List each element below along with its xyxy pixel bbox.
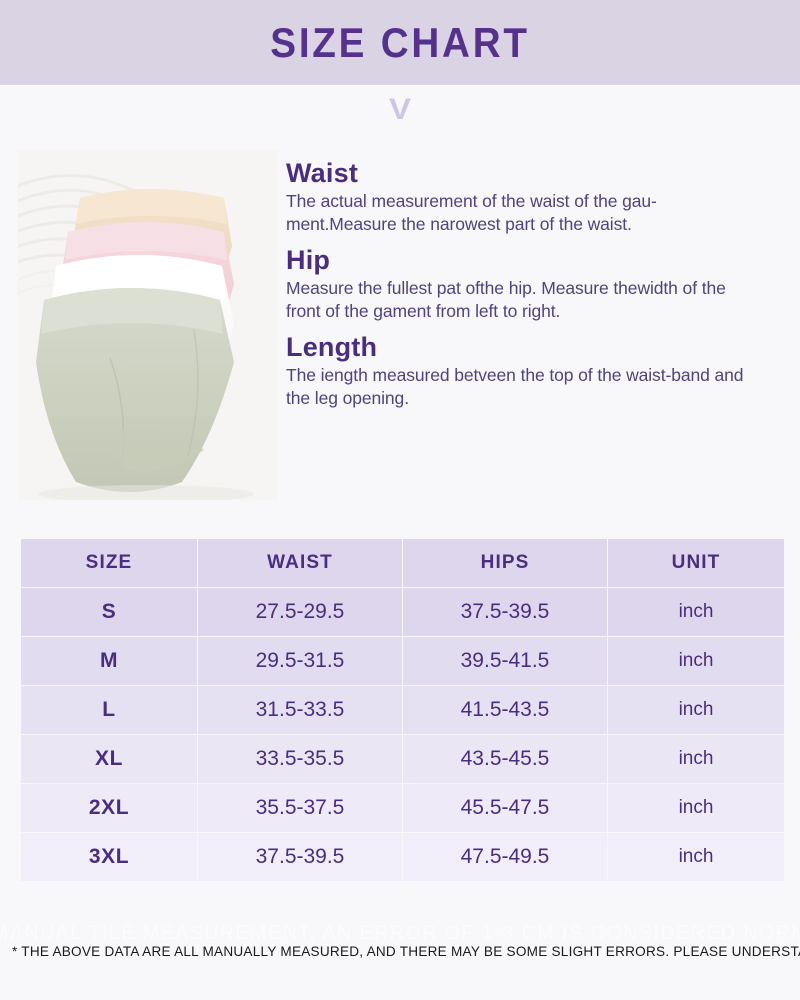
info-section: Waist The actual measurement of the wais… — [0, 140, 800, 520]
product-photo — [18, 150, 278, 500]
desc-heading-length: Length — [286, 332, 764, 364]
cell-unit: inch — [608, 833, 784, 881]
cell-size: 2XL — [21, 784, 197, 832]
cell-unit: inch — [608, 735, 784, 783]
footer: MANUAL TILE MEASUREMENT, AN ERROR OF 1-3… — [0, 905, 800, 1000]
measurement-descriptions: Waist The actual measurement of the wais… — [286, 158, 764, 419]
cell-hips: 45.5-47.5 — [403, 784, 607, 832]
desc-body-waist: The actual measurement of the waist of t… — [286, 190, 764, 236]
cell-size: XL — [21, 735, 197, 783]
column-header-unit: UNIT — [608, 539, 784, 587]
size-table: SIZE WAIST HIPS UNIT S 27.5-29.5 37.5-39… — [20, 538, 785, 882]
table-header-row: SIZE WAIST HIPS UNIT — [21, 539, 784, 587]
table-row: 2XL 35.5-37.5 45.5-47.5 inch — [21, 784, 784, 832]
table-row: XL 33.5-35.5 43.5-45.5 inch — [21, 735, 784, 783]
cell-waist: 37.5-39.5 — [198, 833, 402, 881]
cell-waist: 27.5-29.5 — [198, 588, 402, 636]
page-title: SIZE CHART — [270, 19, 529, 67]
cell-waist: 35.5-37.5 — [198, 784, 402, 832]
cell-waist: 29.5-31.5 — [198, 637, 402, 685]
desc-heading-waist: Waist — [286, 158, 764, 190]
cell-size: 3XL — [21, 833, 197, 881]
cell-hips: 43.5-45.5 — [403, 735, 607, 783]
table-row: L 31.5-33.5 41.5-43.5 inch — [21, 686, 784, 734]
cell-size: S — [21, 588, 197, 636]
cell-hips: 37.5-39.5 — [403, 588, 607, 636]
cell-unit: inch — [608, 784, 784, 832]
product-photo-illustration — [18, 150, 278, 500]
table-row: 3XL 37.5-39.5 47.5-49.5 inch — [21, 833, 784, 881]
table-row: M 29.5-31.5 39.5-41.5 inch — [21, 637, 784, 685]
header-band: SIZE CHART — [0, 0, 800, 85]
footer-ghost-note: MANUAL TILE MEASUREMENT, AN ERROR OF 1-3… — [0, 923, 800, 945]
cell-hips: 41.5-43.5 — [403, 686, 607, 734]
desc-heading-hip: Hip — [286, 245, 764, 277]
cell-size: M — [21, 637, 197, 685]
cell-waist: 31.5-33.5 — [198, 686, 402, 734]
cell-unit: inch — [608, 686, 784, 734]
table-row: S 27.5-29.5 37.5-39.5 inch — [21, 588, 784, 636]
cell-size: L — [21, 686, 197, 734]
chevron-down-icon-wrap: V — [0, 85, 800, 135]
column-header-size: SIZE — [21, 539, 197, 587]
cell-waist: 33.5-35.5 — [198, 735, 402, 783]
cell-hips: 47.5-49.5 — [403, 833, 607, 881]
chevron-down-icon: V — [389, 95, 411, 125]
cell-unit: inch — [608, 588, 784, 636]
cell-hips: 39.5-41.5 — [403, 637, 607, 685]
cell-unit: inch — [608, 637, 784, 685]
footer-disclaimer: * THE ABOVE DATA ARE ALL MANUALLY MEASUR… — [12, 943, 788, 959]
desc-body-length: The iength measured betveen the top of t… — [286, 364, 764, 410]
column-header-hips: HIPS — [403, 539, 607, 587]
column-header-waist: WAIST — [198, 539, 402, 587]
desc-body-hip: Measure the fullest pat ofthe hip. Measu… — [286, 277, 764, 323]
